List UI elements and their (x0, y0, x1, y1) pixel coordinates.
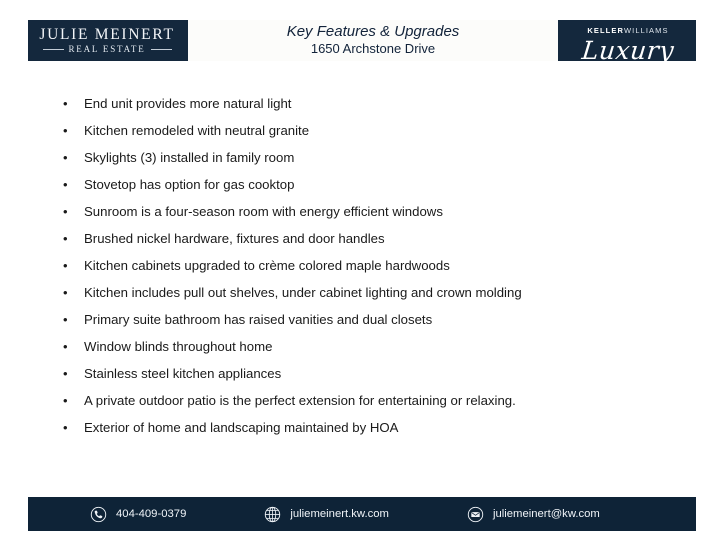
footer-bar: 404-409-0379 juliemeinert.kw.com julieme… (28, 497, 696, 531)
list-item: •Kitchen includes pull out shelves, unde… (62, 279, 702, 306)
brand-tagline-row: REAL ESTATE (28, 45, 186, 54)
keller-williams-luxury-logo: KELLERWILLIAMS Luxury (560, 20, 696, 61)
list-item: •Stainless steel kitchen appliances (62, 360, 702, 387)
bullet-icon: • (63, 225, 68, 252)
contact-website[interactable]: juliemeinert.kw.com (264, 506, 389, 523)
bullet-icon: • (63, 252, 68, 279)
list-item: •Primary suite bathroom has raised vanit… (62, 306, 702, 333)
list-item-label: Sunroom is a four-season room with energ… (84, 204, 443, 219)
list-item-label: Window blinds throughout home (84, 339, 272, 354)
list-item-label: Skylights (3) installed in family room (84, 150, 294, 165)
rule-right (151, 49, 172, 50)
bullet-icon: • (63, 387, 68, 414)
phone-number: 404-409-0379 (116, 508, 186, 520)
bullet-icon: • (63, 414, 68, 441)
contact-phone[interactable]: 404-409-0379 (90, 506, 186, 523)
list-item-label: Brushed nickel hardware, fixtures and do… (84, 231, 385, 246)
luxury-script-text: Luxury (581, 38, 676, 63)
list-item-label: Kitchen includes pull out shelves, under… (84, 285, 522, 300)
brand-tagline: REAL ESTATE (69, 45, 146, 54)
phone-icon (90, 506, 107, 523)
title-panel: Key Features & Upgrades 1650 Archstone D… (186, 20, 560, 61)
bullet-icon: • (63, 360, 68, 387)
list-item: •Brushed nickel hardware, fixtures and d… (62, 225, 702, 252)
list-item-label: Kitchen cabinets upgraded to crème color… (84, 258, 450, 273)
email-address: juliemeinert@kw.com (493, 508, 600, 520)
rule-left (43, 49, 64, 50)
keller-williams-wordmark: KELLERWILLIAMS (587, 21, 668, 37)
bullet-icon: • (63, 306, 68, 333)
contact-email[interactable]: juliemeinert@kw.com (467, 506, 600, 523)
page-title: Key Features & Upgrades (287, 23, 460, 42)
list-item: •End unit provides more natural light (62, 90, 702, 117)
brand-logo: JULIE MEINERT REAL ESTATE (28, 20, 186, 61)
brand-name: JULIE MEINERT (39, 27, 174, 43)
list-item: •Sunroom is a four-season room with ener… (62, 198, 702, 225)
list-item: •Exterior of home and landscaping mainta… (62, 414, 702, 441)
bullet-icon: • (63, 171, 68, 198)
list-item-label: End unit provides more natural light (84, 96, 291, 111)
list-item: •Stovetop has option for gas cooktop (62, 171, 702, 198)
list-item-label: Exterior of home and landscaping maintai… (84, 420, 398, 435)
list-item-label: Kitchen remodeled with neutral granite (84, 123, 309, 138)
list-item-label: A private outdoor patio is the perfect e… (84, 393, 516, 408)
header-bar: JULIE MEINERT REAL ESTATE Key Features &… (28, 20, 696, 61)
bullet-icon: • (63, 144, 68, 171)
list-item: •Skylights (3) installed in family room (62, 144, 702, 171)
page-subtitle: 1650 Archstone Drive (311, 41, 435, 58)
list-item: •Kitchen remodeled with neutral granite (62, 117, 702, 144)
list-item-label: Primary suite bathroom has raised vaniti… (84, 312, 432, 327)
bullet-icon: • (63, 279, 68, 306)
list-item: •Kitchen cabinets upgraded to crème colo… (62, 252, 702, 279)
bullet-icon: • (63, 90, 68, 117)
list-item-label: Stainless steel kitchen appliances (84, 366, 281, 381)
list-item: •A private outdoor patio is the perfect … (62, 387, 702, 414)
features-list: •End unit provides more natural light•Ki… (62, 90, 702, 441)
keller-text: KELLER (587, 26, 624, 35)
bullet-icon: • (63, 333, 68, 360)
website-url: juliemeinert.kw.com (290, 508, 389, 520)
bullet-icon: • (63, 117, 68, 144)
globe-icon (264, 506, 281, 523)
list-item-label: Stovetop has option for gas cooktop (84, 177, 294, 192)
list-item: •Window blinds throughout home (62, 333, 702, 360)
williams-text: WILLIAMS (624, 26, 669, 35)
bullet-icon: • (63, 198, 68, 225)
mail-icon (467, 506, 484, 523)
